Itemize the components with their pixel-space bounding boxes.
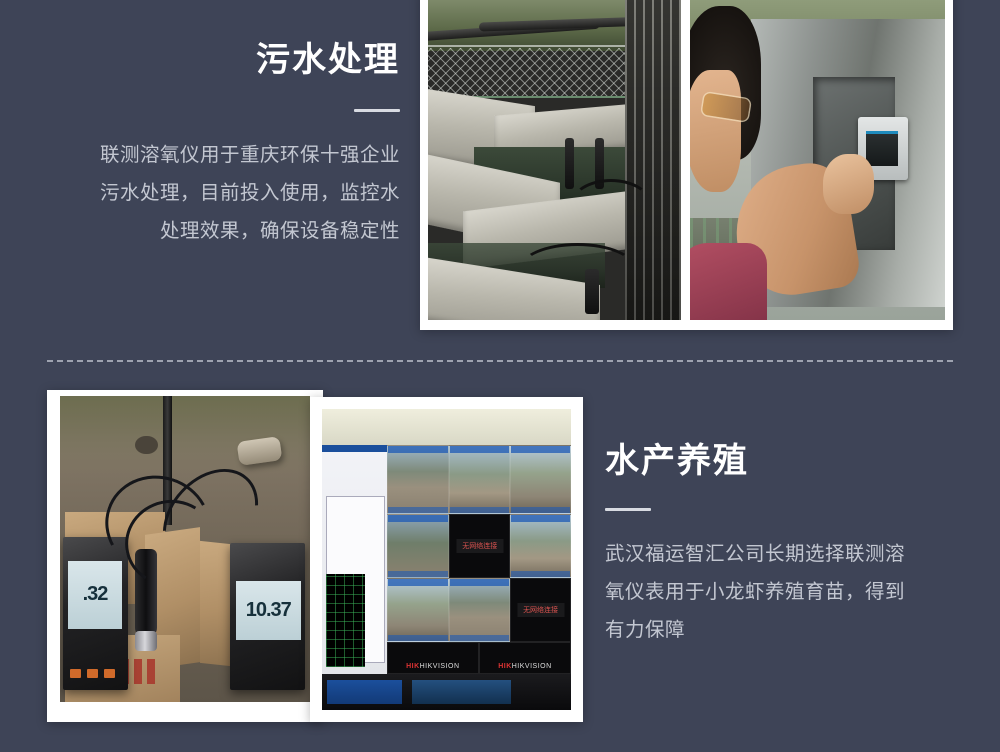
- hikvision-logo: HIKHIKVISION: [406, 663, 459, 670]
- section-body-wastewater: 联测溶氧仪用于重庆环保十强企业 污水处理，目前投入使用，监控水 处理效果，确保设…: [40, 136, 400, 250]
- section-body-aquaculture: 武汉福运智汇公司长期选择联测溶 氧仪表用于小龙虾养殖育苗，得到 有力保障: [605, 535, 955, 649]
- hikvision-logo-text: HIKVISION: [420, 663, 460, 670]
- page-title-wastewater: 污水处理: [40, 42, 400, 79]
- body-line: 有力保障: [605, 611, 955, 649]
- hikvision-logo-text: HIKVISION: [512, 663, 552, 670]
- hikvision-logo: HIKHIKVISION: [498, 663, 551, 670]
- body-line: 联测溶氧仪用于重庆环保十强企业: [40, 136, 400, 174]
- no-signal-label: 无网络连接: [517, 603, 564, 617]
- body-line: 污水处理，目前投入使用，监控水: [40, 174, 400, 212]
- meter-right-readout: 10.37: [246, 599, 291, 622]
- body-line: 氧仪表用于小龙虾养殖育苗，得到: [605, 573, 955, 611]
- page-title-aquaculture: 水产养殖: [605, 443, 955, 480]
- photo-technician-enclosure: [690, 0, 945, 320]
- section-wastewater-text: 污水处理 联测溶氧仪用于重庆环保十强企业 污水处理，目前投入使用，监控水 处理效…: [40, 42, 400, 250]
- body-line: 处理效果，确保设备稳定性: [40, 212, 400, 250]
- promo-page: 污水处理 联测溶氧仪用于重庆环保十强企业 污水处理，目前投入使用，监控水 处理效…: [0, 0, 1000, 752]
- section-aquaculture-text: 水产养殖 武汉福运智汇公司长期选择联测溶 氧仪表用于小龙虾养殖育苗，得到 有力保…: [605, 443, 955, 649]
- meter-left-readout: .32: [83, 583, 108, 606]
- photo-sedimentation-tanks: [428, 0, 681, 320]
- title-rule-wastewater: [354, 109, 400, 112]
- section-divider: [47, 360, 953, 362]
- body-line: 武汉福运智汇公司长期选择联测溶: [605, 535, 955, 573]
- no-signal-label: 无网络连接: [456, 539, 503, 553]
- photo-cctv-monitor-wall: 无网络连接 无网络连接 HIKHIKVISION HIKHIKVISION: [322, 409, 571, 710]
- title-rule-aquaculture: [605, 508, 651, 511]
- photo-do-meters: .32 10.37: [60, 396, 310, 702]
